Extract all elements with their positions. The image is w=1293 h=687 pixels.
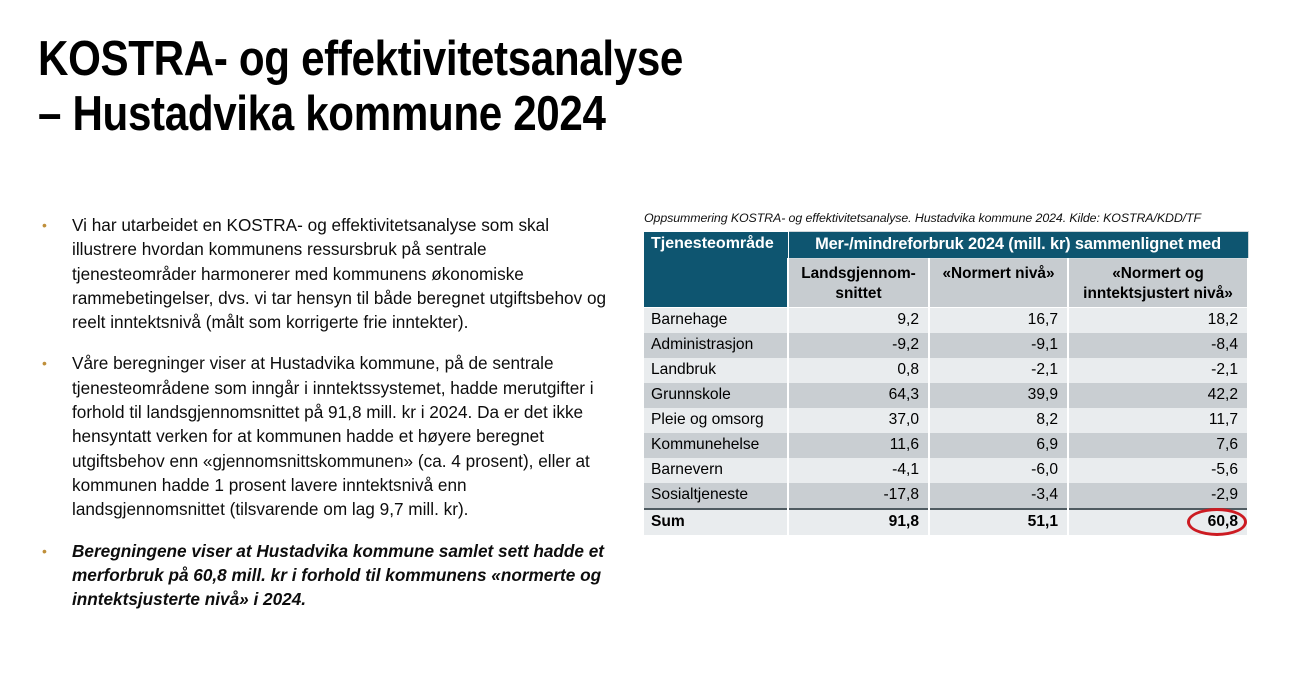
kostra-summary-table: Tjenesteområde Mer-/mindreforbruk 2024 (… (644, 231, 1249, 535)
table-row: Administrasjon -9,2 -9,1 -8,4 (644, 333, 1248, 358)
table-row: Grunnskole 64,3 39,9 42,2 (644, 383, 1248, 408)
cell-value: 8,2 (929, 408, 1068, 433)
cell-value: 42,2 (1068, 383, 1248, 408)
sum-value-text: 60,8 (1208, 513, 1238, 530)
column-header-normert-niva: «Normert nivå» (929, 259, 1068, 308)
table-row: Barnehage 9,2 16,7 18,2 (644, 308, 1248, 334)
list-item-emphasized: • Beregningene viser at Hustadvika kommu… (38, 539, 613, 612)
cell-value: 6,9 (929, 433, 1068, 458)
table-row: Kommunehelse 11,6 6,9 7,6 (644, 433, 1248, 458)
table-body: Barnehage 9,2 16,7 18,2 Administrasjon -… (644, 308, 1248, 536)
column-header-landsgjennomsnittet: Landsgjennom-snittet (788, 259, 929, 308)
row-label: Landbruk (644, 358, 788, 383)
bullet-marker-icon: • (38, 213, 72, 238)
bullet-marker-icon: • (38, 351, 72, 376)
cell-value-sum: 91,8 (788, 509, 929, 535)
row-label: Kommunehelse (644, 433, 788, 458)
cell-value: 39,9 (929, 383, 1068, 408)
cell-value: 11,7 (1068, 408, 1248, 433)
cell-value: 7,6 (1068, 433, 1248, 458)
bullet-list: • Vi har utarbeidet en KOSTRA- og effekt… (38, 213, 613, 628)
column-header-tjenesteomrade: Tjenesteområde (644, 232, 788, 308)
row-label: Grunnskole (644, 383, 788, 408)
page-title: KOSTRA- og effektivitetsanalyse – Hustad… (38, 32, 760, 142)
cell-value: 9,2 (788, 308, 929, 334)
cell-value: -6,0 (929, 458, 1068, 483)
column-header-normert-og-inntektsjustert-niva: «Normert og inntektsjustert nivå» (1068, 259, 1248, 308)
row-label: Barnehage (644, 308, 788, 334)
cell-value: -2,9 (1068, 483, 1248, 509)
slide-canvas: { "slide": { "title": "KOSTRA- og effekt… (0, 0, 1293, 687)
row-label-sum: Sum (644, 509, 788, 535)
cell-value: 0,8 (788, 358, 929, 383)
cell-value-sum: 51,1 (929, 509, 1068, 535)
cell-value: -2,1 (1068, 358, 1248, 383)
table-row: Sosialtjeneste -17,8 -3,4 -2,9 (644, 483, 1248, 509)
cell-value-sum-highlighted: 60,8 (1068, 509, 1248, 535)
cell-value: -9,1 (929, 333, 1068, 358)
row-label: Administrasjon (644, 333, 788, 358)
bullet-marker-icon: • (38, 539, 72, 564)
cell-value: -3,4 (929, 483, 1068, 509)
column-header-span: Mer-/mindreforbruk 2024 (mill. kr) samme… (788, 232, 1248, 259)
bullet-text: Våre beregninger viser at Hustadvika kom… (72, 351, 613, 521)
bullet-text: Vi har utarbeidet en KOSTRA- og effektiv… (72, 213, 613, 334)
cell-value: 37,0 (788, 408, 929, 433)
table-header-row-top: Tjenesteområde Mer-/mindreforbruk 2024 (… (644, 232, 1248, 259)
cell-value: -8,4 (1068, 333, 1248, 358)
cell-value: 18,2 (1068, 308, 1248, 334)
bullet-text: Beregningene viser at Hustadvika kommune… (72, 539, 613, 612)
row-label: Pleie og omsorg (644, 408, 788, 433)
cell-value: 11,6 (788, 433, 929, 458)
cell-value: 16,7 (929, 308, 1068, 334)
cell-value: -9,2 (788, 333, 929, 358)
list-item: • Våre beregninger viser at Hustadvika k… (38, 351, 613, 521)
table-row-sum: Sum 91,8 51,1 60,8 (644, 509, 1248, 535)
row-label: Barnevern (644, 458, 788, 483)
cell-value: -17,8 (788, 483, 929, 509)
table-row: Barnevern -4,1 -6,0 -5,6 (644, 458, 1248, 483)
table-row: Pleie og omsorg 37,0 8,2 11,7 (644, 408, 1248, 433)
cell-value: -2,1 (929, 358, 1068, 383)
row-label: Sosialtjeneste (644, 483, 788, 509)
table-row: Landbruk 0,8 -2,1 -2,1 (644, 358, 1248, 383)
table-caption: Oppsummering KOSTRA- og effektivitetsana… (644, 210, 1248, 226)
table-container: Oppsummering KOSTRA- og effektivitetsana… (644, 210, 1248, 535)
list-item: • Vi har utarbeidet en KOSTRA- og effekt… (38, 213, 613, 334)
cell-value: 64,3 (788, 383, 929, 408)
cell-value: -4,1 (788, 458, 929, 483)
cell-value: -5,6 (1068, 458, 1248, 483)
table-head: Tjenesteområde Mer-/mindreforbruk 2024 (… (644, 232, 1248, 308)
